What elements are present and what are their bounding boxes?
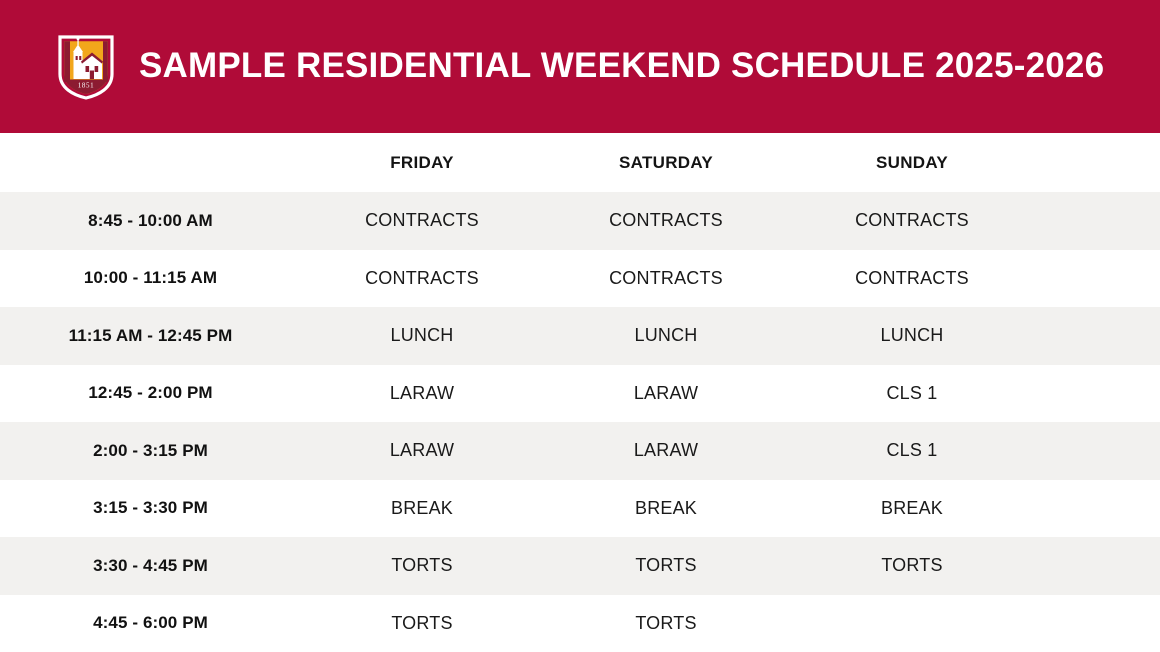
cell-friday: TORTS bbox=[301, 537, 543, 595]
table-row: 3:15 - 3:30 PM BREAK BREAK BREAK bbox=[0, 480, 1160, 538]
cell-saturday: CONTRACTS bbox=[543, 250, 789, 308]
table-row: 12:45 - 2:00 PM LARAW LARAW CLS 1 bbox=[0, 365, 1160, 423]
table-body: 8:45 - 10:00 AM CONTRACTS CONTRACTS CONT… bbox=[0, 192, 1160, 652]
cell-spacer bbox=[1035, 192, 1160, 250]
cell-sunday: CLS 1 bbox=[789, 422, 1035, 480]
row-time-slot: 10:00 - 11:15 AM bbox=[0, 250, 301, 308]
cell-spacer bbox=[1035, 537, 1160, 595]
table-header-row: FRIDAY SATURDAY SUNDAY bbox=[0, 133, 1160, 192]
logo-year-text: 1851 bbox=[78, 81, 94, 89]
cell-spacer bbox=[1035, 422, 1160, 480]
column-header-spacer bbox=[1035, 133, 1160, 192]
cell-saturday: CONTRACTS bbox=[543, 192, 789, 250]
table-header: FRIDAY SATURDAY SUNDAY bbox=[0, 133, 1160, 192]
column-header-friday: FRIDAY bbox=[301, 133, 543, 192]
cell-friday: CONTRACTS bbox=[301, 192, 543, 250]
row-time-slot: 2:00 - 3:15 PM bbox=[0, 422, 301, 480]
cell-saturday: TORTS bbox=[543, 595, 789, 652]
cell-spacer bbox=[1035, 307, 1160, 365]
cell-sunday bbox=[789, 595, 1035, 652]
table-row: 10:00 - 11:15 AM CONTRACTS CONTRACTS CON… bbox=[0, 250, 1160, 308]
column-header-sunday: SUNDAY bbox=[789, 133, 1035, 192]
cell-spacer bbox=[1035, 250, 1160, 308]
table-row: 8:45 - 10:00 AM CONTRACTS CONTRACTS CONT… bbox=[0, 192, 1160, 250]
row-time-slot: 3:30 - 4:45 PM bbox=[0, 537, 301, 595]
row-time-slot: 4:45 - 6:00 PM bbox=[0, 595, 301, 652]
row-time-slot: 12:45 - 2:00 PM bbox=[0, 365, 301, 423]
cell-spacer bbox=[1035, 595, 1160, 652]
page-header-banner: 1851 SAMPLE RESIDENTIAL WEEKEND SCHEDULE… bbox=[0, 0, 1160, 133]
column-header-saturday: SATURDAY bbox=[543, 133, 789, 192]
cell-friday: BREAK bbox=[301, 480, 543, 538]
cell-spacer bbox=[1035, 365, 1160, 423]
row-time-slot: 3:15 - 3:30 PM bbox=[0, 480, 301, 538]
table-row: 11:15 AM - 12:45 PM LUNCH LUNCH LUNCH bbox=[0, 307, 1160, 365]
table-row: 4:45 - 6:00 PM TORTS TORTS bbox=[0, 595, 1160, 652]
row-time-slot: 8:45 - 10:00 AM bbox=[0, 192, 301, 250]
cell-sunday: CONTRACTS bbox=[789, 250, 1035, 308]
cell-saturday: BREAK bbox=[543, 480, 789, 538]
cell-friday: CONTRACTS bbox=[301, 250, 543, 308]
weekend-schedule-table: FRIDAY SATURDAY SUNDAY 8:45 - 10:00 AM C… bbox=[0, 133, 1160, 652]
cell-saturday: LARAW bbox=[543, 422, 789, 480]
cell-friday: TORTS bbox=[301, 595, 543, 652]
cell-friday: LARAW bbox=[301, 365, 543, 423]
row-time-slot: 11:15 AM - 12:45 PM bbox=[0, 307, 301, 365]
schedule-page: 1851 SAMPLE RESIDENTIAL WEEKEND SCHEDULE… bbox=[0, 0, 1160, 652]
table-row: 2:00 - 3:15 PM LARAW LARAW CLS 1 bbox=[0, 422, 1160, 480]
page-title: SAMPLE RESIDENTIAL WEEKEND SCHEDULE 2025… bbox=[139, 48, 1104, 85]
cell-friday: LUNCH bbox=[301, 307, 543, 365]
cell-sunday: CLS 1 bbox=[789, 365, 1035, 423]
university-shield-logo-icon: 1851 bbox=[57, 34, 115, 100]
cell-friday: LARAW bbox=[301, 422, 543, 480]
column-header-time bbox=[0, 133, 301, 192]
cell-saturday: LARAW bbox=[543, 365, 789, 423]
cell-sunday: BREAK bbox=[789, 480, 1035, 538]
table-row: 3:30 - 4:45 PM TORTS TORTS TORTS bbox=[0, 537, 1160, 595]
cell-sunday: LUNCH bbox=[789, 307, 1035, 365]
cell-saturday: TORTS bbox=[543, 537, 789, 595]
cell-sunday: TORTS bbox=[789, 537, 1035, 595]
cell-saturday: LUNCH bbox=[543, 307, 789, 365]
cell-spacer bbox=[1035, 480, 1160, 538]
cell-sunday: CONTRACTS bbox=[789, 192, 1035, 250]
